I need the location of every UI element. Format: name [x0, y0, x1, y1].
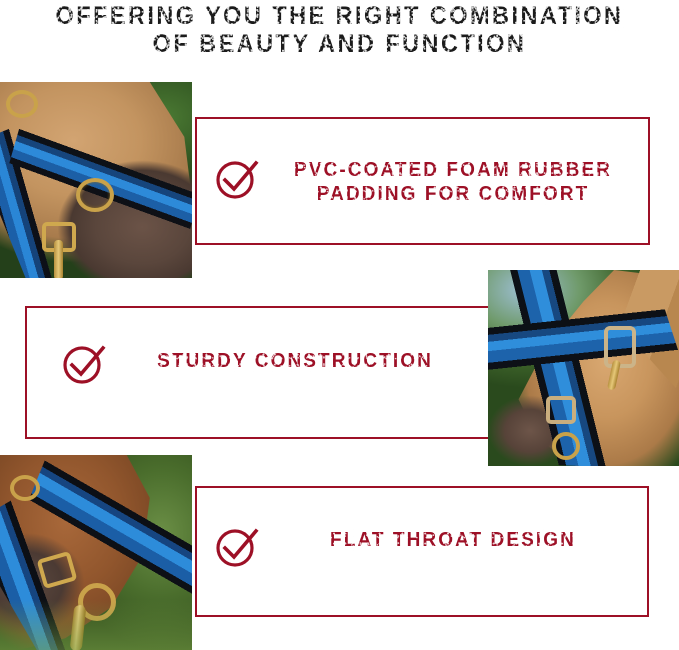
- photo-horse-halter-snap: [0, 455, 192, 650]
- feature-2-line-1: STURDY CONSTRUCTION: [157, 349, 433, 373]
- grass-foreground: [0, 455, 192, 650]
- feature-label-construction: STURDY CONSTRUCTION: [110, 349, 480, 373]
- infographic-page: OFFERING YOU THE RIGHT COMBINATION OF BE…: [0, 0, 679, 650]
- checkmark-circle-icon: [60, 338, 110, 388]
- halter-ring-center: [76, 178, 114, 212]
- feature-label-throat: FLAT THROAT DESIGN: [268, 528, 638, 552]
- headline-line-2: OF BEAUTY AND FUNCTION: [153, 30, 527, 58]
- feature-1-line-1: PVC-COATED FOAM RUBBER: [294, 158, 612, 182]
- feature-label-padding: PVC-COATED FOAM RUBBER PADDING FOR COMFO…: [268, 158, 638, 206]
- photo-horse-muzzle-halter: [0, 82, 192, 278]
- feature-1-line-2: PADDING FOR COMFORT: [317, 182, 590, 206]
- page-title: OFFERING YOU THE RIGHT COMBINATION OF BE…: [0, 2, 679, 58]
- halter-ring-top: [6, 90, 38, 118]
- photo-horse-head-profile: [488, 270, 679, 466]
- halter-ring: [552, 432, 580, 460]
- halter-buckle-lower: [546, 396, 576, 424]
- headline-line-1: OFFERING YOU THE RIGHT COMBINATION: [56, 2, 624, 30]
- halter-snap-hook: [54, 240, 63, 278]
- checkmark-circle-icon: [213, 153, 263, 203]
- feature-3-line-1: FLAT THROAT DESIGN: [330, 528, 576, 552]
- checkmark-circle-icon: [213, 521, 263, 571]
